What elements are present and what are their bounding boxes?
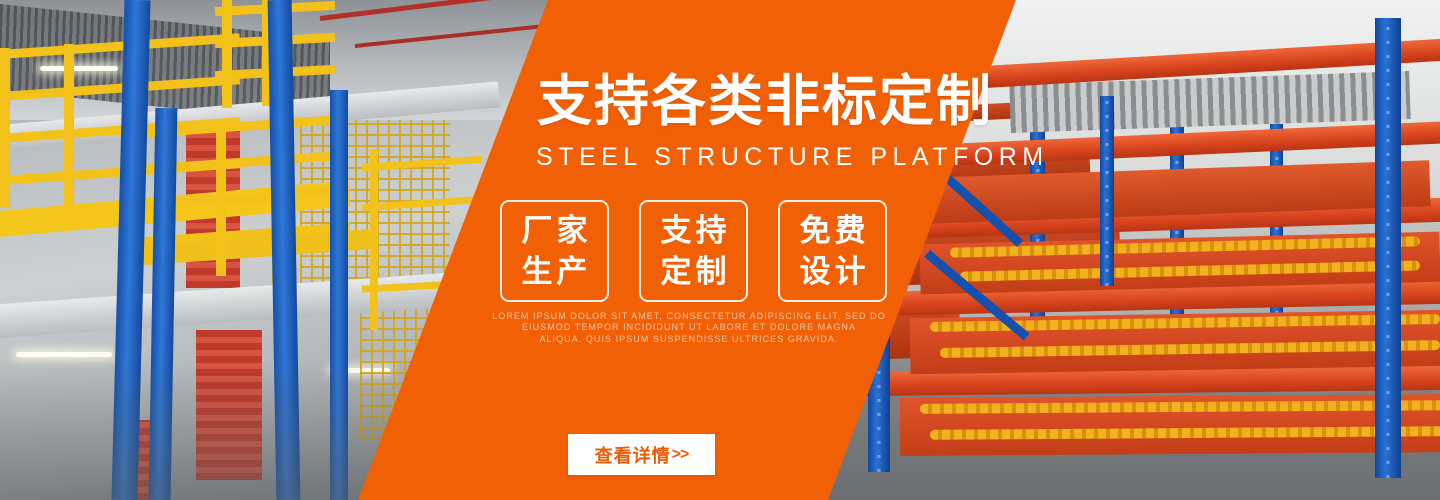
badge-line-2: 设计 [796,251,870,292]
description-line: ALIQUA. QUIS IPSUM SUSPENDISSE ULTRICES … [469,334,909,345]
badge-line-1: 支持 [657,210,731,251]
page-title: 支持各类非标定制 [537,70,993,132]
feature-badges: 厂家 生产 支持 定制 免费 设计 [500,200,887,302]
view-details-button[interactable]: 查看详情 >> [568,434,715,475]
double-chevron-right-icon: >> [672,446,689,464]
subtitle: STEEL STRUCTURE PLATFORM [536,143,1049,171]
description-line: EIUSMOD TEMPOR INCIDIDUNT UT LABORE ET D… [469,322,909,333]
badge-line-1: 厂家 [518,210,592,251]
badge-line-2: 定制 [657,251,731,292]
badge-free-design: 免费 设计 [778,200,887,302]
promo-banner: 支持各类非标定制 STEEL STRUCTURE PLATFORM 厂家 生产 … [0,0,1440,500]
banner-content: 支持各类非标定制 STEEL STRUCTURE PLATFORM 厂家 生产 … [0,0,1440,500]
view-details-label: 查看详情 [595,442,671,468]
badge-line-1: 免费 [796,210,870,251]
description-line: LOREM IPSUM DOLOR SIT AMET, CONSECTETUR … [469,311,909,322]
badge-manufacturer-production: 厂家 生产 [500,200,609,302]
badge-line-2: 生产 [518,251,592,292]
badge-supports-customization: 支持 定制 [639,200,748,302]
description-text: LOREM IPSUM DOLOR SIT AMET, CONSECTETUR … [469,311,909,345]
